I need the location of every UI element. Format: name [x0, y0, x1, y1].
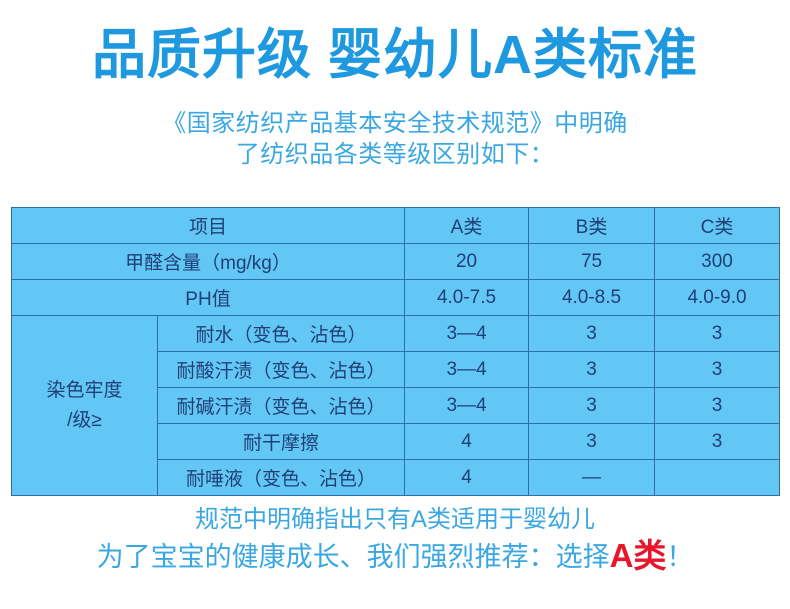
- cell-ph-c: 4.0-9.0: [655, 280, 780, 316]
- cell-acid-sweat-b: 3: [529, 352, 655, 388]
- group-label-line-1: 染色牢度: [14, 376, 155, 406]
- header-cell-class-c: C类: [655, 208, 780, 244]
- row-label-saliva: 耐唾液（变色、沾色）: [158, 460, 405, 496]
- header-cell-class-a: A类: [405, 208, 529, 244]
- cell-water-c: 3: [655, 316, 780, 352]
- page-subtitle: 《国家纺织产品基本安全技术规范》中明确 了纺织品各类等级区别如下：: [0, 108, 790, 170]
- subtitle-line-1: 《国家纺织产品基本安全技术规范》中明确: [0, 108, 790, 139]
- cell-alkali-sweat-a: 3—4: [405, 388, 529, 424]
- footer-text: 规范中明确指出只有A类适用于婴幼儿 为了宝宝的健康成长、我们强烈推荐：选择A类！: [0, 503, 790, 576]
- header-cell-item: 项目: [12, 208, 405, 244]
- row-label-alkali-sweat: 耐碱汗渍（变色、沾色）: [158, 388, 405, 424]
- cell-dry-rub-a: 4: [405, 424, 529, 460]
- promo-page: 品质升级 婴幼儿A类标准 《国家纺织产品基本安全技术规范》中明确 了纺织品各类等…: [0, 0, 790, 609]
- table-row: 染色牢度 /级≥ 耐水（变色、沾色） 3—4 3 3: [12, 316, 780, 352]
- footer-highlight-class-a: A类: [610, 537, 667, 574]
- table-header-row: 项目 A类 B类 C类: [12, 208, 780, 244]
- table-row: 甲醛含量（mg/kg） 20 75 300: [12, 244, 780, 280]
- cell-ph-b: 4.0-8.5: [529, 280, 655, 316]
- footer-line-2: 为了宝宝的健康成长、我们强烈推荐：选择A类！: [0, 537, 790, 576]
- subtitle-line-2: 了纺织品各类等级区别如下：: [0, 139, 790, 170]
- row-label-ph: PH值: [12, 280, 405, 316]
- row-label-formaldehyde: 甲醛含量（mg/kg）: [12, 244, 405, 280]
- spec-table: 项目 A类 B类 C类 甲醛含量（mg/kg） 20 75 300 PH值 4.…: [11, 207, 780, 496]
- row-label-acid-sweat: 耐酸汗渍（变色、沾色）: [158, 352, 405, 388]
- cell-water-b: 3: [529, 316, 655, 352]
- table-row: PH值 4.0-7.5 4.0-8.5 4.0-9.0: [12, 280, 780, 316]
- cell-acid-sweat-a: 3—4: [405, 352, 529, 388]
- row-label-water: 耐水（变色、沾色）: [158, 316, 405, 352]
- cell-ph-a: 4.0-7.5: [405, 280, 529, 316]
- cell-formaldehyde-c: 300: [655, 244, 780, 280]
- cell-saliva-c: [655, 460, 780, 496]
- cell-alkali-sweat-b: 3: [529, 388, 655, 424]
- row-group-label-colorfastness: 染色牢度 /级≥: [12, 316, 158, 496]
- cell-formaldehyde-a: 20: [405, 244, 529, 280]
- footer-line-2-prefix: 为了宝宝的健康成长、我们强烈推荐：选择: [97, 542, 610, 572]
- cell-formaldehyde-b: 75: [529, 244, 655, 280]
- header-cell-class-b: B类: [529, 208, 655, 244]
- cell-alkali-sweat-c: 3: [655, 388, 780, 424]
- row-label-dry-rub: 耐干摩擦: [158, 424, 405, 460]
- cell-water-a: 3—4: [405, 316, 529, 352]
- footer-line-1: 规范中明确指出只有A类适用于婴幼儿: [0, 503, 790, 537]
- spec-table-wrapper: 项目 A类 B类 C类 甲醛含量（mg/kg） 20 75 300 PH值 4.…: [11, 207, 779, 496]
- cell-acid-sweat-c: 3: [655, 352, 780, 388]
- cell-saliva-b: —: [529, 460, 655, 496]
- group-label-line-2: /级≥: [14, 406, 155, 436]
- page-title: 品质升级 婴幼儿A类标准: [0, 24, 790, 86]
- cell-dry-rub-c: 3: [655, 424, 780, 460]
- cell-dry-rub-b: 3: [529, 424, 655, 460]
- footer-line-2-suffix: ！: [666, 542, 693, 572]
- cell-saliva-a: 4: [405, 460, 529, 496]
